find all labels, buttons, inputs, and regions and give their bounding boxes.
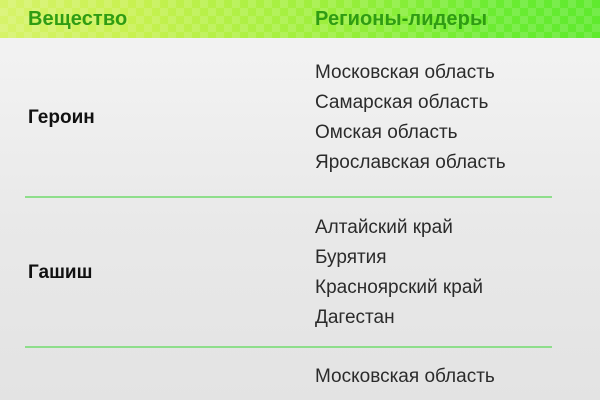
table-body: Героин Московская область Самарская обла…	[0, 38, 600, 400]
region-item: Алтайский край	[315, 213, 483, 243]
table-row: Героин Московская область Самарская обла…	[0, 38, 600, 198]
region-item: Ярославская область	[315, 148, 506, 178]
table-row: Московская область	[0, 348, 600, 400]
region-item: Бурятия	[315, 243, 483, 273]
cell-regions-list: Московская область	[315, 348, 495, 400]
region-item: Красноярский край	[315, 273, 483, 303]
column-header-substance: Вещество	[28, 0, 127, 38]
region-item: Московская область	[315, 58, 506, 88]
cell-substance-name: Героин	[28, 38, 95, 198]
region-item: Дагестан	[315, 303, 483, 333]
cell-regions-list: Алтайский край Бурятия Красноярский край…	[315, 198, 483, 348]
cell-substance-name: Гашиш	[28, 198, 92, 348]
regions-leaders-table: Вещество Регионы-лидеры Героин Московска…	[0, 0, 600, 400]
cell-regions-list: Московская область Самарская область Омс…	[315, 38, 506, 198]
column-header-regions: Регионы-лидеры	[315, 0, 487, 38]
region-item: Омская область	[315, 118, 506, 148]
table-row: Гашиш Алтайский край Бурятия Красноярски…	[0, 198, 600, 348]
region-item: Самарская область	[315, 88, 506, 118]
table-header-row: Вещество Регионы-лидеры	[0, 0, 600, 38]
region-item: Московская область	[315, 362, 495, 392]
